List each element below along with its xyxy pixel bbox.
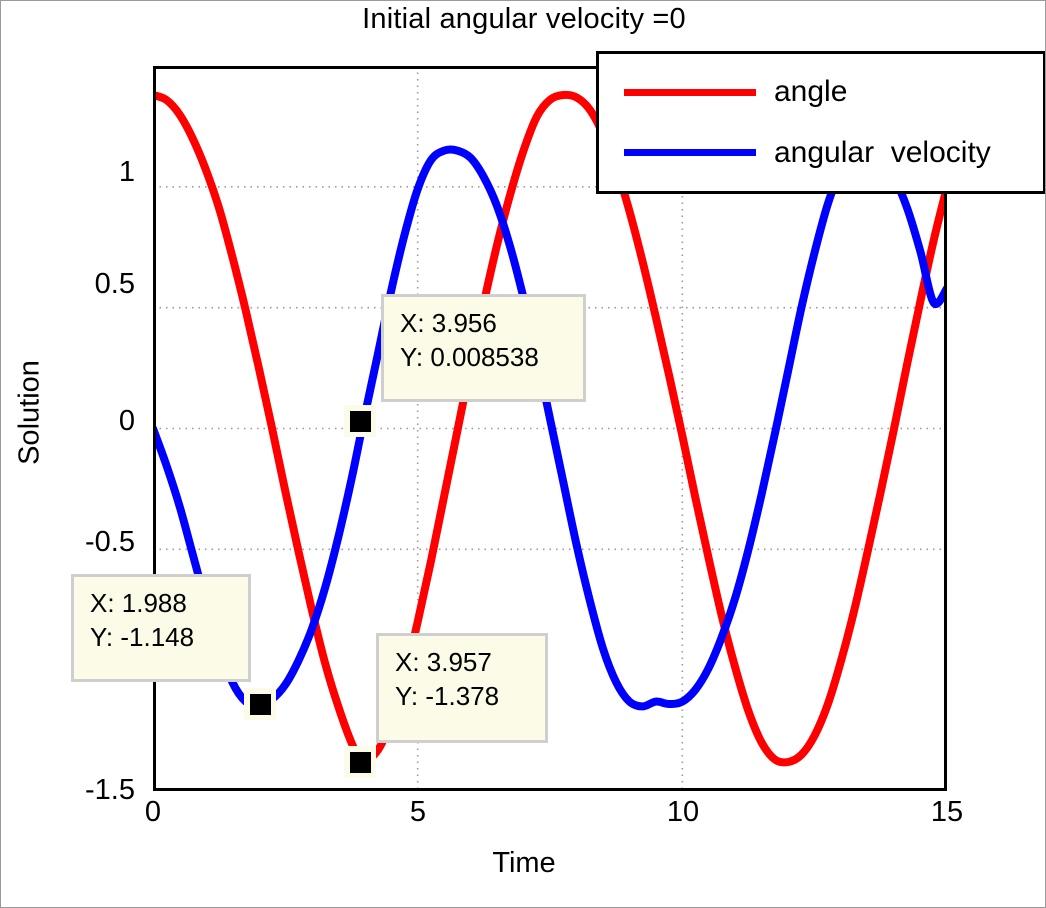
datatip-marker[interactable] bbox=[344, 405, 376, 437]
legend-entry-angle[interactable]: angle bbox=[599, 67, 1043, 117]
x-tick-label: 15 bbox=[887, 796, 1007, 829]
x-tick-label: 5 bbox=[358, 796, 478, 829]
page-title: Initial angular velocity =0 bbox=[1, 3, 1046, 36]
datatip-angle-min[interactable]: X: 3.957 Y: -1.378 bbox=[376, 633, 548, 743]
datatip-angular-velocity-zero[interactable]: X: 3.956 Y: 0.008538 bbox=[381, 294, 586, 402]
datatip-y-value: Y: -1.148 bbox=[90, 620, 234, 654]
legend-swatch-angle bbox=[624, 89, 756, 96]
datatip-marker[interactable] bbox=[244, 688, 276, 720]
y-tick-label: 0.5 bbox=[15, 268, 135, 301]
x-axis-label: Time bbox=[1, 847, 1046, 880]
data-series-layer bbox=[153, 95, 947, 763]
datatip-x-value: X: 1.988 bbox=[90, 586, 234, 620]
datatip-angular-velocity-min[interactable]: X: 1.988 Y: -1.148 bbox=[71, 574, 251, 682]
datatip-x-value: X: 3.956 bbox=[400, 306, 569, 340]
figure-window: Initial angular velocity =0 Solution Tim… bbox=[0, 0, 1046, 908]
legend-swatch-angular-velocity bbox=[624, 149, 756, 156]
x-tick-label: 0 bbox=[93, 796, 213, 829]
legend-entry-angular-velocity[interactable]: angular velocity bbox=[599, 128, 1043, 178]
y-tick-label: 0 bbox=[15, 405, 135, 438]
legend-label-angular-velocity: angular velocity bbox=[774, 136, 991, 170]
legend[interactable]: angle angular velocity bbox=[596, 51, 1046, 194]
datatip-marker[interactable] bbox=[344, 746, 376, 778]
y-tick-label: 1 bbox=[15, 156, 135, 189]
datatip-x-value: X: 3.957 bbox=[395, 645, 531, 679]
x-tick-label: 10 bbox=[623, 796, 743, 829]
y-tick-label: -0.5 bbox=[15, 526, 135, 559]
datatip-y-value: Y: 0.008538 bbox=[400, 340, 569, 374]
datatip-y-value: Y: -1.378 bbox=[395, 679, 531, 713]
legend-label-angle: angle bbox=[774, 75, 847, 109]
